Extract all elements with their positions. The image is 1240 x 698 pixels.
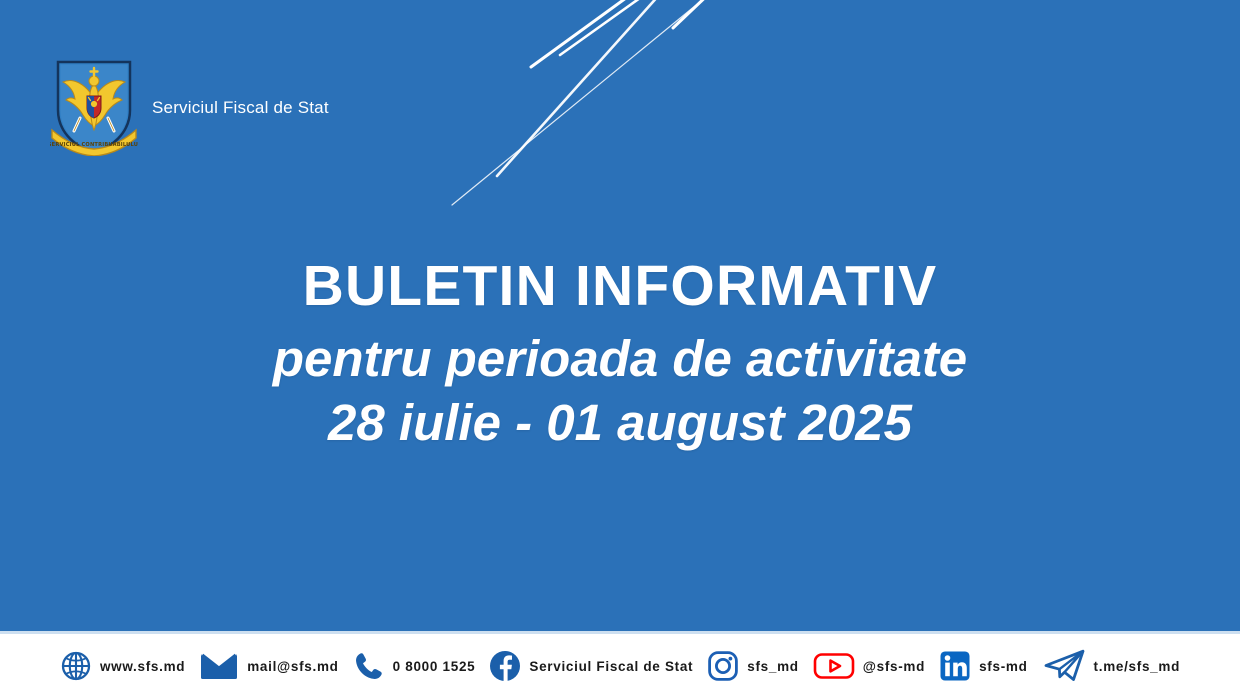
contact-instagram-label: sfs_md	[747, 659, 798, 674]
telegram-icon	[1042, 648, 1088, 684]
contact-email-label: mail@sfs.md	[247, 659, 338, 674]
youtube-icon	[813, 650, 855, 682]
svg-text:SERVICIUL CONTRIBUABILULUI: SERVICIUL CONTRIBUABILULUI	[50, 142, 138, 148]
contact-linkedin-label: sfs-md	[979, 659, 1027, 674]
bulletin-subtitle-line2: 28 iulie - 01 august 2025	[0, 391, 1240, 455]
contact-facebook-label: Serviciul Fiscal de Stat	[529, 659, 693, 674]
hero-panel: SERVICIUL CONTRIBUABILULUI Serviciul Fis…	[0, 0, 1240, 631]
contact-instagram[interactable]: sfs_md	[707, 650, 812, 682]
contact-phone[interactable]: 0 8000 1525	[353, 650, 490, 682]
contact-youtube[interactable]: @sfs-md	[813, 650, 939, 682]
contact-telegram[interactable]: t.me/sfs_md	[1042, 648, 1180, 684]
bulletin-subtitle-line1: pentru perioada de activitate	[0, 327, 1240, 391]
contact-website[interactable]: www.sfs.md	[60, 650, 199, 682]
contact-website-label: www.sfs.md	[100, 659, 185, 674]
contact-footer-bar: www.sfs.md mail@sfs.md 0 8000 1525	[0, 634, 1240, 698]
envelope-icon	[199, 650, 239, 682]
title-block: BULETIN INFORMATIV pentru perioada de ac…	[0, 258, 1240, 456]
moldova-coat-of-arms-icon: SERVICIUL CONTRIBUABILULUI	[50, 58, 138, 156]
contact-telegram-label: t.me/sfs_md	[1094, 659, 1180, 674]
instagram-icon	[707, 650, 739, 682]
contact-email[interactable]: mail@sfs.md	[199, 650, 352, 682]
contact-youtube-label: @sfs-md	[863, 659, 925, 674]
contact-phone-label: 0 8000 1525	[393, 659, 476, 674]
phone-icon	[353, 650, 385, 682]
contact-linkedin[interactable]: sfs-md	[939, 650, 1041, 682]
bulletin-title: BULETIN INFORMATIV	[0, 258, 1240, 315]
facebook-icon	[489, 650, 521, 682]
contact-facebook[interactable]: Serviciul Fiscal de Stat	[489, 650, 707, 682]
poster-root: SERVICIUL CONTRIBUABILULUI Serviciul Fis…	[0, 0, 1240, 698]
brand-lockup: SERVICIUL CONTRIBUABILULUI Serviciul Fis…	[50, 58, 329, 156]
globe-icon	[60, 650, 92, 682]
brand-name-label: Serviciul Fiscal de Stat	[152, 98, 329, 118]
linkedin-icon	[939, 650, 971, 682]
